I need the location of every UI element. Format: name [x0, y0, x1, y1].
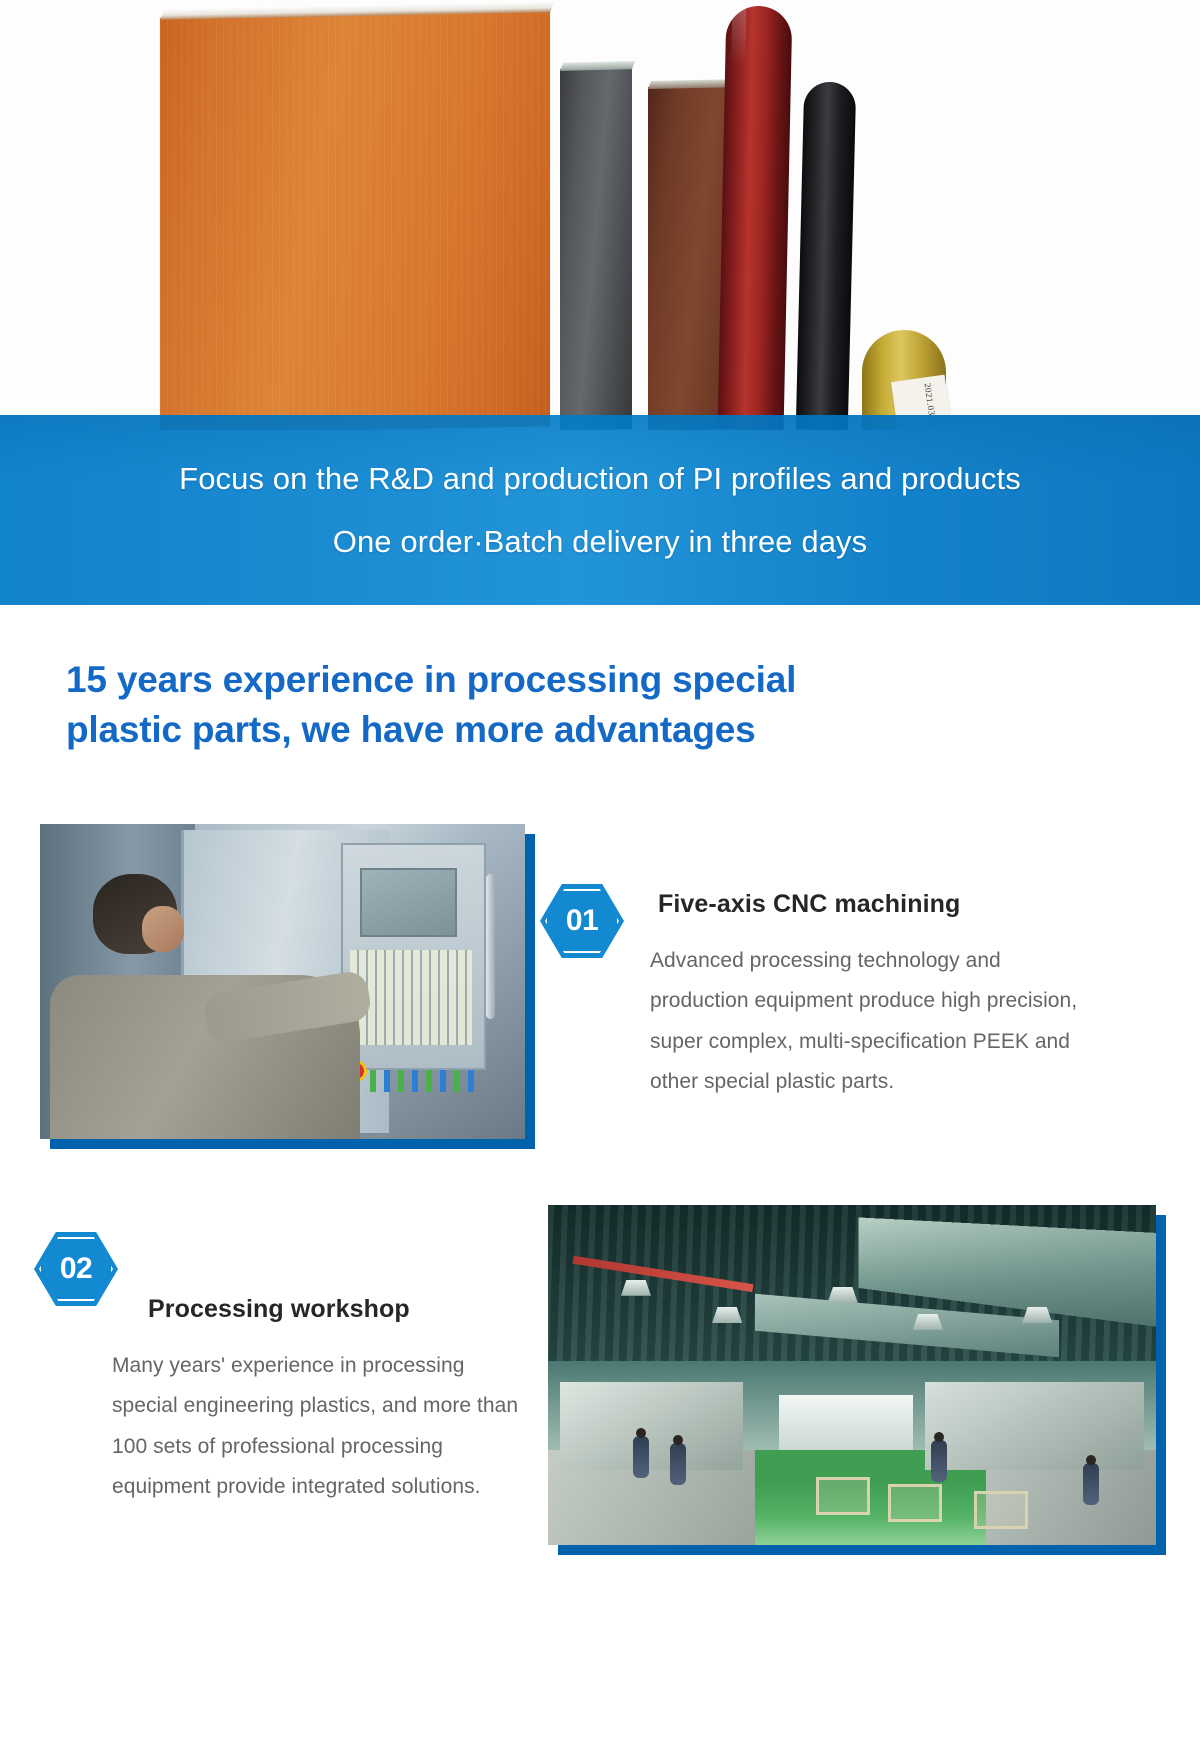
workshop-window: [779, 1395, 913, 1449]
feature-badge-02: 02: [34, 1232, 118, 1306]
material-cart: [974, 1491, 1028, 1529]
machine-row-right: [925, 1382, 1144, 1470]
worker-figure: [1083, 1463, 1099, 1505]
operator-face: [142, 906, 184, 952]
feature-badge-01: 01: [540, 884, 624, 958]
gray-pi-sheet: [560, 67, 632, 430]
worker-figure: [633, 1436, 649, 1478]
banner-tagline-line-2: One order·Batch delivery in three days: [0, 524, 1200, 560]
tagline-banner: Focus on the R&D and production of PI pr…: [0, 415, 1200, 605]
hero-photo-stage: 2021.03.05: [0, 0, 1200, 430]
material-cart: [888, 1484, 942, 1522]
feature-title-01: Five-axis CNC machining: [658, 890, 1090, 919]
feature-number-02: 02: [60, 1254, 92, 1284]
banner-tagline-line-1: Focus on the R&D and production of PI pr…: [0, 461, 1200, 497]
feature-body-02: Many years' experience in processing spe…: [112, 1346, 532, 1507]
door-handle: [486, 874, 495, 1019]
cnc-photo-content: [40, 824, 525, 1139]
feature-number-01: 01: [566, 906, 598, 936]
section-heading-line-2: plastic parts, we have more advantages: [66, 705, 1066, 755]
sheet-grain-texture: [160, 10, 550, 430]
hexagon-badge-shape: 01: [540, 884, 624, 958]
worker-figure: [670, 1443, 686, 1485]
cnc-machining-photo: [40, 824, 525, 1139]
material-cart: [816, 1477, 870, 1515]
black-pi-rod: [796, 81, 856, 430]
worker-figure: [931, 1440, 947, 1482]
orange-pi-sheet: [160, 10, 550, 430]
machine-row-left: [560, 1382, 742, 1470]
workshop-photo: [548, 1205, 1156, 1545]
product-detail-page: 2021.03.05 Focus on the R&D and producti…: [0, 0, 1200, 1756]
indicator-led-row: [370, 1070, 477, 1092]
hero-product-photo: 2021.03.05: [0, 0, 1200, 430]
section-heading-line-1: 15 years experience in processing specia…: [66, 655, 1066, 705]
dark-red-pi-rod: [718, 5, 793, 430]
feature-block-01: Five-axis CNC machining Advanced process…: [650, 890, 1090, 1102]
feature-body-01: Advanced processing technology and produ…: [650, 941, 1090, 1102]
feature-title-02: Processing workshop: [148, 1295, 532, 1324]
feature-block-02: Processing workshop Many years' experien…: [112, 1295, 532, 1507]
control-panel-screen: [360, 868, 457, 937]
workshop-photo-content: [548, 1205, 1156, 1545]
banner-overlay-veil: [0, 415, 1200, 605]
hexagon-badge-shape: 02: [34, 1232, 118, 1306]
section-heading: 15 years experience in processing specia…: [66, 655, 1066, 756]
